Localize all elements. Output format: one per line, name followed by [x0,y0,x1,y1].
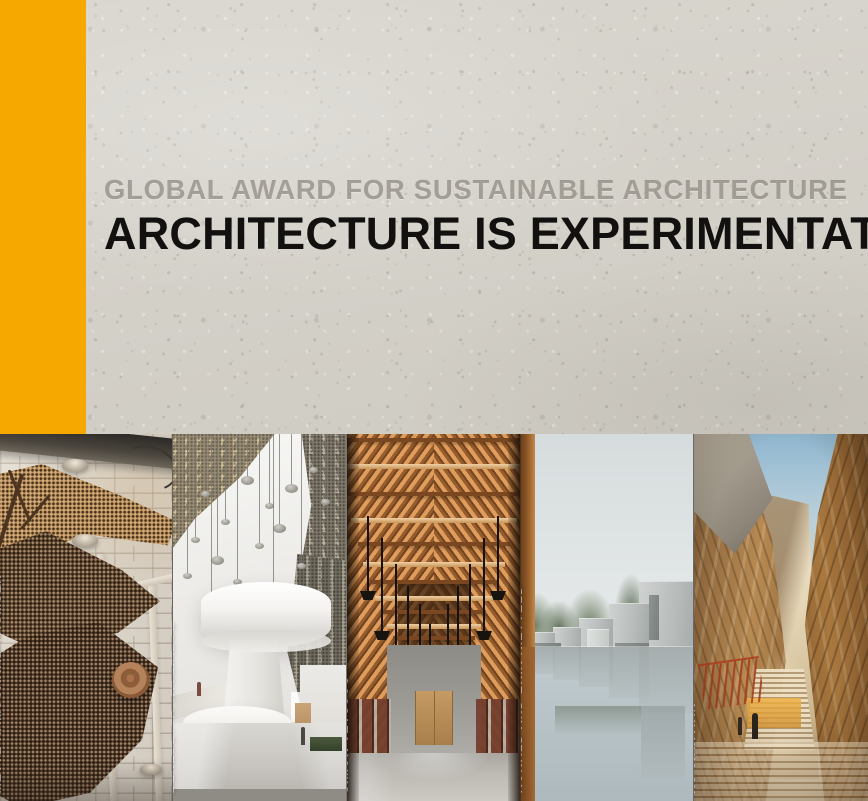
pendant-light [205,434,206,492]
roof-truss [393,636,475,640]
pendant-light [187,434,188,574]
pendant-light [237,434,238,580]
slab-reflection [609,647,649,698]
truss-chord [347,464,521,469]
panel-caption: XU TIANTIAN [694,702,697,793]
roof-truss [347,438,521,442]
pendant-light [211,434,212,596]
right-edge-shadow [508,434,520,801]
pendant-light [247,434,248,478]
panel-caption: BENEDETTA TAGLIABUE [173,622,176,793]
photo-panel-mette-ramsgaard-thomsen: METTE RAMSGAARD THOMSEN [0,434,173,801]
slab-reflection [553,647,581,680]
tree-reflection [555,706,641,735]
concrete-fin [649,595,659,639]
pendant-lamp [497,516,499,594]
title-block: GLOBAL AWARD FOR SUSTAINABLE ARCHITECTUR… [104,176,860,256]
pendant-lamp [381,538,383,634]
person-figure [301,727,305,745]
photo-panel-benedetta-tagliabue: BENEDETTA TAGLIABUE [173,434,347,801]
roof-truss [347,492,521,496]
pendant-light [325,434,326,500]
roof-truss [370,580,498,584]
pendant-light [217,434,218,558]
photo-panel-simon-teyssou: SIMON TEYSSOU [347,434,521,801]
panel-caption: RONALD AND ERIK RIETVELD [521,584,524,793]
floor-shadow [0,757,172,801]
pendant-lamp [367,516,369,594]
slab-reflection [579,647,613,687]
vignette [694,434,868,801]
ceiling-lamp [72,534,98,547]
pendant-light [259,434,260,544]
reception-counter [310,737,342,751]
floor-base-band [173,789,346,801]
thread-spool [112,662,150,698]
page-title: ARCHITECTURE IS EXPERIMENTATION [104,211,860,256]
pendant-light [279,434,280,526]
panel-caption: METTE RAMSGAARD THOMSEN [0,573,3,793]
wall-reflection [641,706,685,779]
book-cover: GLOBAL AWARD FOR SUSTAINABLE ARCHITECTUR… [0,0,868,801]
pendant-light [225,434,226,520]
drum-band [201,630,331,652]
pendant-light [195,434,196,538]
person-figure [197,682,201,696]
pendant-light [269,434,270,504]
pendant-light [313,434,314,468]
truss-chord [351,518,517,523]
photo-strip: METTE RAMSGAARD THOMSEN [0,434,868,801]
truss-chord [375,596,493,601]
pendant-lamp [483,538,485,634]
floor-reflection [347,753,520,801]
panel-caption: SIMON TEYSSOU [347,675,350,793]
pendant-light [291,434,292,486]
yellow-spine-bar [0,0,86,434]
timber-end-door [415,691,453,745]
pendant-light [273,434,274,594]
award-series-kicker: GLOBAL AWARD FOR SUSTAINABLE ARCHITECTUR… [104,176,860,204]
ceiling-lamp [62,459,88,472]
pendant-light [301,434,302,564]
truss-chord [387,624,481,629]
photo-panel-xu-tiantian: XU TIANTIAN [694,434,868,801]
photo-panel-ronald-and-erik-rietveld: RONALD AND ERIK RIETVELD [521,434,694,801]
